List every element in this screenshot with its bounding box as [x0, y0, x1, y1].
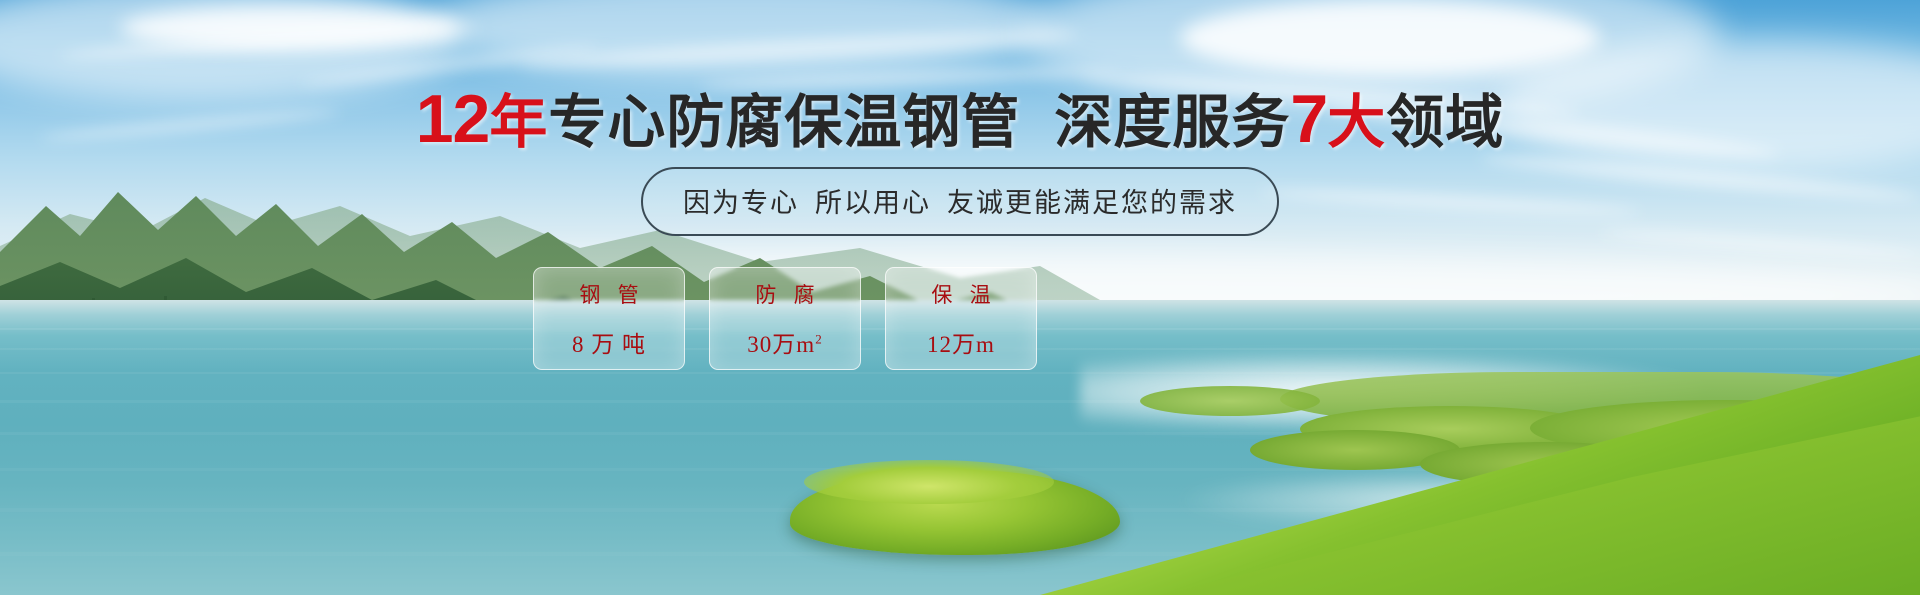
stat-card-value: 12万m [927, 325, 995, 359]
stat-card-value-text: 12万m [927, 332, 995, 357]
subtitle-part-one: 因为专心 [683, 188, 799, 218]
headline-segment-one: 专心防腐保温钢管 [548, 90, 1020, 155]
headline-years-number: 12 [416, 81, 490, 157]
stat-card-title: 保 温 [925, 279, 996, 309]
stat-card-value: 8 万 吨 [572, 325, 646, 359]
marsh-patch [1140, 386, 1320, 416]
headline-segment-two: 深度服务 [1054, 90, 1290, 155]
headline-fields-number: 7 [1290, 81, 1327, 157]
stat-card-list: 钢 管 8 万 吨 防 腐 30万m2 保 温 12万m [533, 267, 1037, 370]
hero-banner: 12年专心防腐保温钢管深度服务7大领域 因为专心所以用心友诚更能满足您的需求 钢… [0, 0, 1920, 595]
subtitle-part-three: 友诚更能满足您的需求 [947, 188, 1237, 218]
subtitle-pill: 因为专心所以用心友诚更能满足您的需求 [641, 167, 1279, 236]
hero-headline: 12年专心防腐保温钢管深度服务7大领域 [0, 88, 1920, 154]
stat-card-anticorrosion[interactable]: 防 腐 30万m2 [709, 267, 861, 370]
headline-segment-three: 领域 [1386, 90, 1504, 155]
stat-card-title: 钢 管 [573, 279, 644, 309]
subtitle-part-two: 所以用心 [815, 188, 931, 218]
stat-card-insulation[interactable]: 保 温 12万m [885, 267, 1037, 370]
headline-years-unit: 年 [489, 90, 548, 155]
stat-card-value-text: 8 万 吨 [572, 332, 646, 357]
stat-card-title: 防 腐 [749, 279, 820, 309]
stat-card-steel-pipe[interactable]: 钢 管 8 万 吨 [533, 267, 685, 370]
stat-card-value: 30万m2 [747, 325, 822, 359]
stat-card-value-superscript: 2 [815, 331, 823, 346]
headline-fields-unit: 大 [1327, 90, 1386, 155]
stat-card-value-text: 30万m [747, 332, 815, 357]
